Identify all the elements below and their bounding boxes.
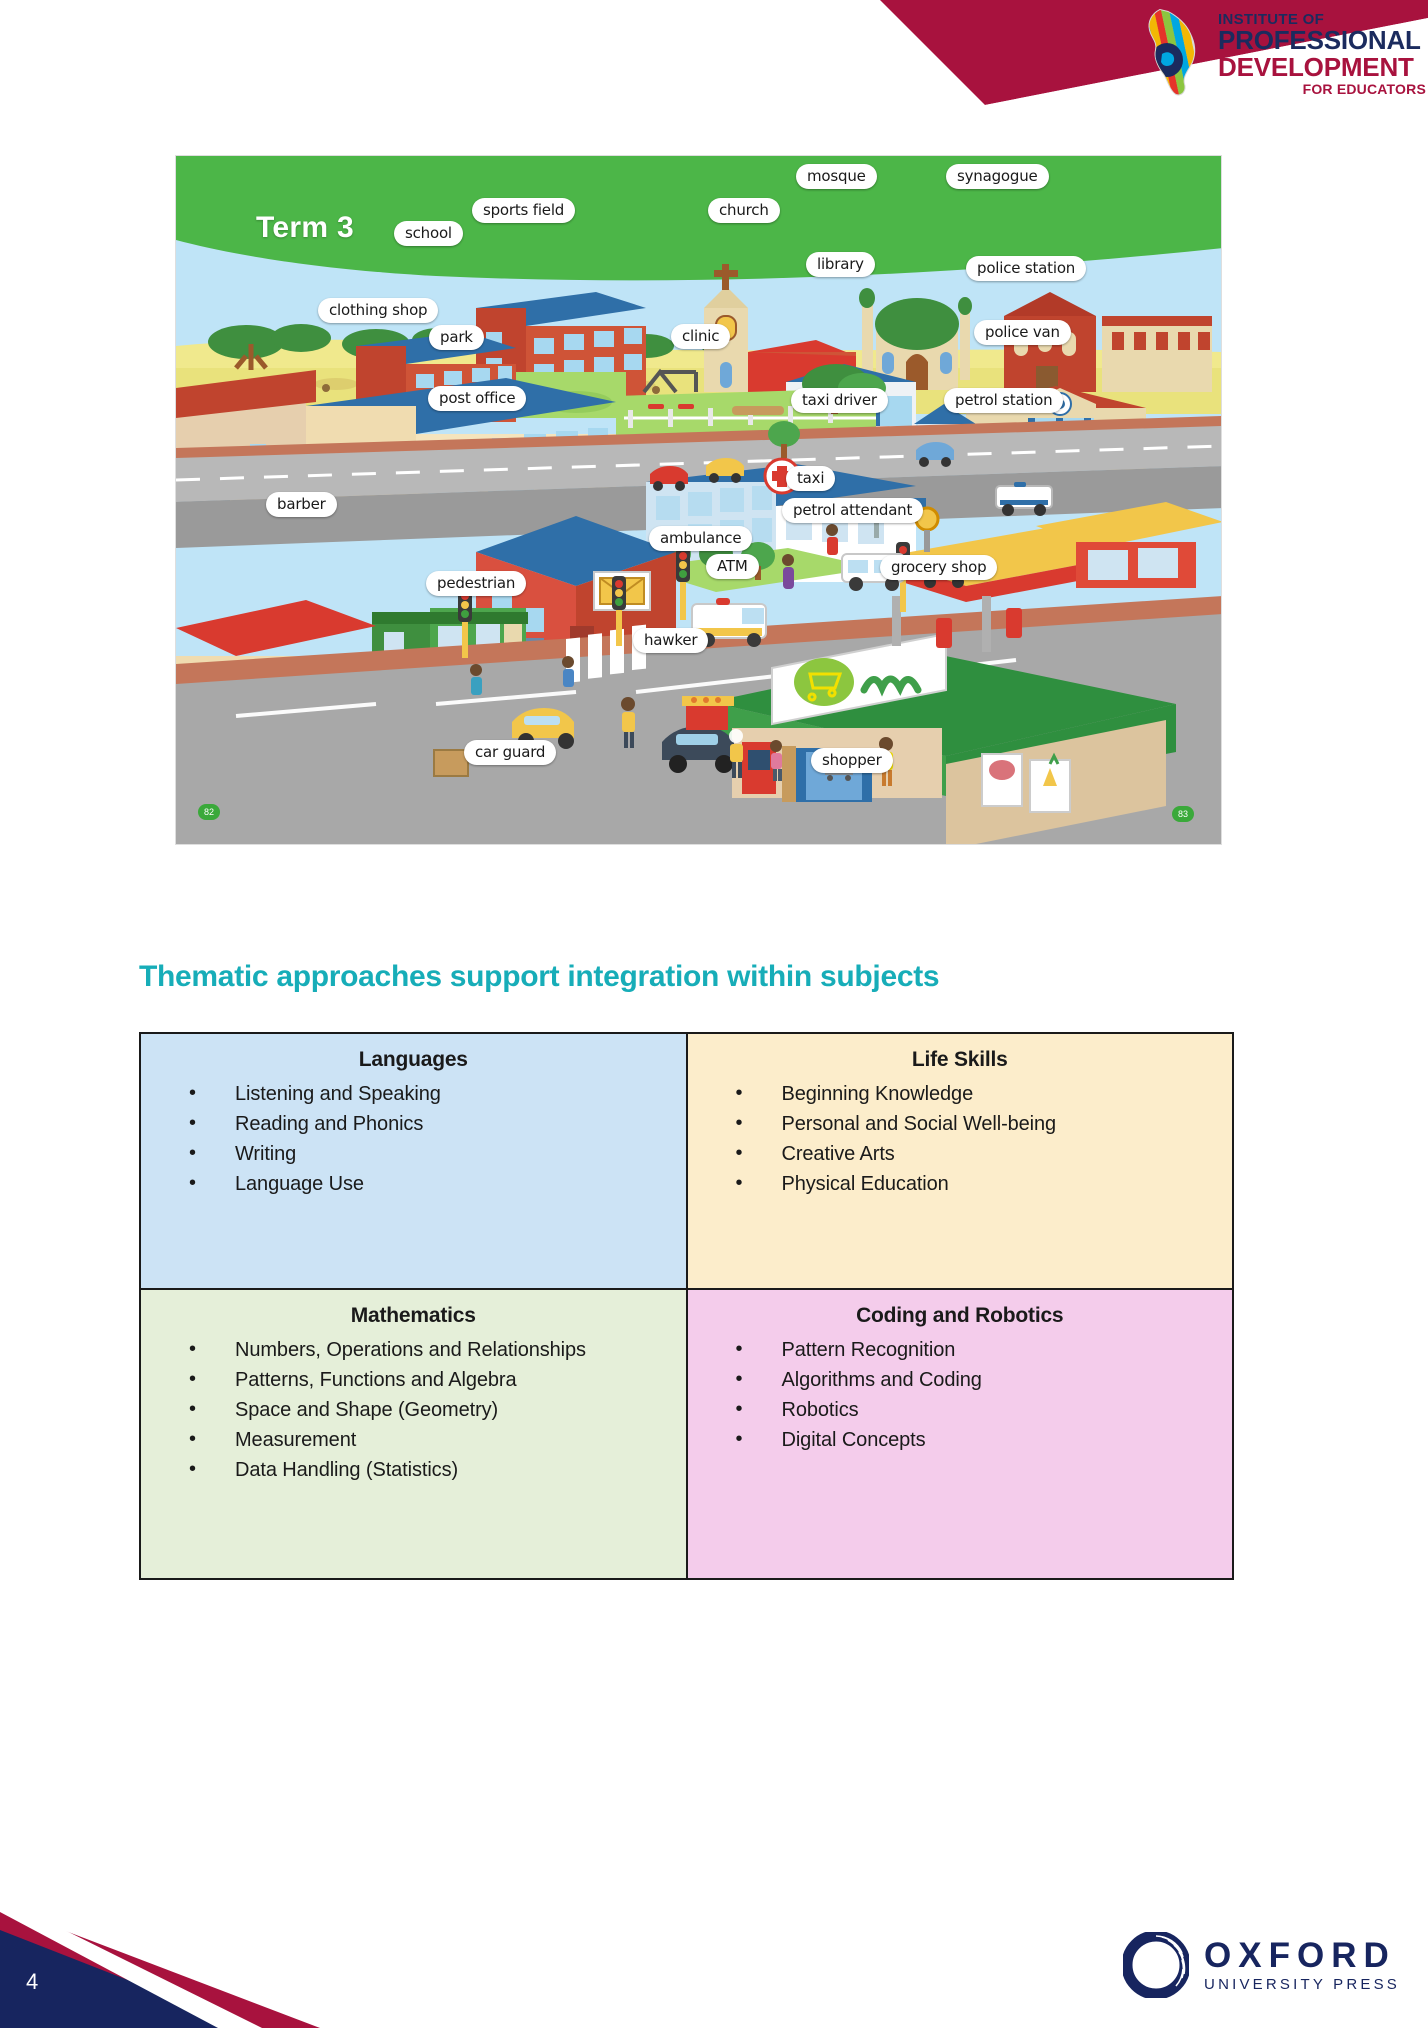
footer-crimson-stripe bbox=[0, 1906, 320, 2028]
label-police-station: police station bbox=[966, 256, 1086, 281]
list-item: Algorithms and Coding bbox=[736, 1366, 1223, 1394]
label-library: library bbox=[806, 252, 875, 277]
list-item: Numbers, Operations and Relationships bbox=[189, 1336, 676, 1364]
slide-page: INSTITUTE OF PROFESSIONAL DEVELOPMENT FO… bbox=[0, 0, 1428, 2028]
label-park: park bbox=[429, 325, 484, 350]
page-number: 4 bbox=[26, 1969, 38, 1995]
list-item: Measurement bbox=[189, 1426, 676, 1454]
cell-heading-mathematics: Mathematics bbox=[151, 1304, 676, 1328]
oup-spiral-icon bbox=[1123, 1932, 1189, 1998]
label-petrol-station: petrol station bbox=[944, 388, 1063, 413]
list-coding-robotics: Pattern Recognition Algorithms and Codin… bbox=[736, 1336, 1223, 1454]
label-car-guard: car guard bbox=[464, 740, 556, 765]
list-item: Creative Arts bbox=[736, 1140, 1223, 1168]
label-barber: barber bbox=[266, 492, 337, 517]
label-post-office: post office bbox=[428, 386, 526, 411]
label-taxi-driver: taxi driver bbox=[791, 388, 888, 413]
list-item: Data Handling (Statistics) bbox=[189, 1456, 676, 1484]
cell-life-skills: Life Skills Beginning Knowledge Personal… bbox=[687, 1033, 1234, 1289]
label-police-van: police van bbox=[974, 320, 1071, 345]
label-church: church bbox=[708, 198, 780, 223]
brand-line-professional: PROFESSIONAL bbox=[1218, 27, 1428, 54]
town-scene-illustration: Term 3 school sports field church mosque… bbox=[175, 155, 1222, 845]
oxford-university-press-logo: OXFORD UNIVERSITY PRESS bbox=[1123, 1932, 1400, 1998]
footer-navy-triangle bbox=[0, 1916, 300, 2028]
section-heading: Thematic approaches support integration … bbox=[139, 960, 939, 994]
cell-heading-coding-robotics: Coding and Robotics bbox=[698, 1304, 1223, 1328]
list-item: Personal and Social Well-being bbox=[736, 1110, 1223, 1138]
label-taxi: taxi bbox=[786, 466, 835, 491]
label-shopper: shopper bbox=[811, 748, 893, 773]
label-clinic: clinic bbox=[671, 324, 730, 349]
label-synagogue: synagogue bbox=[946, 164, 1049, 189]
oup-wordmark: OXFORD UNIVERSITY PRESS bbox=[1204, 1938, 1400, 1992]
cell-mathematics: Mathematics Numbers, Operations and Rela… bbox=[140, 1289, 687, 1579]
list-item: Digital Concepts bbox=[736, 1426, 1223, 1454]
label-grocery-shop: grocery shop bbox=[880, 555, 997, 580]
label-sports-field: sports field bbox=[472, 198, 575, 223]
list-item: Pattern Recognition bbox=[736, 1336, 1223, 1364]
oup-subname: UNIVERSITY PRESS bbox=[1204, 1977, 1400, 1992]
cell-heading-languages: Languages bbox=[151, 1048, 676, 1072]
list-item: Reading and Phonics bbox=[189, 1110, 676, 1138]
label-ambulance: ambulance bbox=[649, 526, 752, 551]
brand-wordmark: INSTITUTE OF PROFESSIONAL DEVELOPMENT FO… bbox=[1218, 12, 1428, 96]
list-languages: Listening and Speaking Reading and Phoni… bbox=[189, 1080, 676, 1198]
oup-name: OXFORD bbox=[1204, 1938, 1400, 1973]
list-item: Physical Education bbox=[736, 1170, 1223, 1198]
label-pedestrian: pedestrian bbox=[426, 571, 526, 596]
africa-map-logo bbox=[1122, 4, 1218, 100]
list-item: Patterns, Functions and Algebra bbox=[189, 1366, 676, 1394]
page-marker-left: 82 bbox=[198, 804, 220, 820]
list-item: Writing bbox=[189, 1140, 676, 1168]
list-item: Language Use bbox=[189, 1170, 676, 1198]
label-atm: ATM bbox=[706, 554, 759, 579]
table-row: Languages Listening and Speaking Reading… bbox=[140, 1033, 1233, 1289]
list-life-skills: Beginning Knowledge Personal and Social … bbox=[736, 1080, 1223, 1198]
label-mosque: mosque bbox=[796, 164, 877, 189]
subject-areas-table: Languages Listening and Speaking Reading… bbox=[139, 1032, 1234, 1580]
label-school: school bbox=[394, 221, 463, 246]
brand-line-for-educators: FOR EDUCATORS bbox=[1218, 82, 1428, 96]
label-clothing-shop: clothing shop bbox=[318, 298, 438, 323]
list-mathematics: Numbers, Operations and Relationships Pa… bbox=[189, 1336, 676, 1484]
list-item: Beginning Knowledge bbox=[736, 1080, 1223, 1108]
cell-languages: Languages Listening and Speaking Reading… bbox=[140, 1033, 687, 1289]
hawker-stall bbox=[682, 696, 734, 730]
label-hawker: hawker bbox=[633, 628, 708, 653]
term-badge: Term 3 bbox=[256, 211, 354, 245]
table-row: Mathematics Numbers, Operations and Rela… bbox=[140, 1289, 1233, 1579]
label-petrol-attendant: petrol attendant bbox=[782, 498, 923, 523]
list-item: Robotics bbox=[736, 1396, 1223, 1424]
list-item: Space and Shape (Geometry) bbox=[189, 1396, 676, 1424]
cell-coding-robotics: Coding and Robotics Pattern Recognition … bbox=[687, 1289, 1234, 1579]
list-item: Listening and Speaking bbox=[189, 1080, 676, 1108]
page-marker-right: 83 bbox=[1172, 806, 1194, 822]
brand-line-development: DEVELOPMENT bbox=[1218, 54, 1428, 81]
cell-heading-life-skills: Life Skills bbox=[698, 1048, 1223, 1072]
